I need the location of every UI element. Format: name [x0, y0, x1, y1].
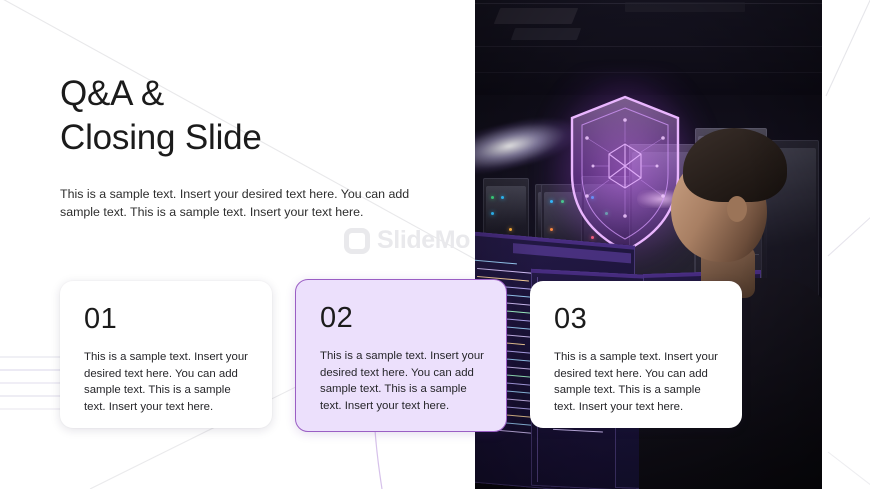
- card-body-text: This is a sample text. Insert your desir…: [320, 348, 488, 414]
- slide-canvas: SlideMo Q&A & Closing Slide This is a sa…: [0, 0, 870, 489]
- intro-paragraph: This is a sample text. Insert your desir…: [60, 185, 450, 221]
- watermark-text: SlideMo: [377, 226, 470, 255]
- page-title: Q&A & Closing Slide: [60, 72, 460, 160]
- card-number: 03: [554, 303, 587, 335]
- card-number: 01: [84, 303, 117, 335]
- info-card-02[interactable]: 02 This is a sample text. Insert your de…: [295, 279, 507, 432]
- card-number: 02: [320, 302, 353, 334]
- slidemodel-logo-icon: [344, 228, 370, 254]
- watermark: SlideMo: [344, 226, 470, 255]
- card-body-text: This is a sample text. Insert your desir…: [84, 349, 254, 415]
- card-body-text: This is a sample text. Insert your desir…: [554, 349, 724, 415]
- info-card-01[interactable]: 01 This is a sample text. Insert your de…: [60, 281, 272, 428]
- info-card-03[interactable]: 03 This is a sample text. Insert your de…: [530, 281, 742, 428]
